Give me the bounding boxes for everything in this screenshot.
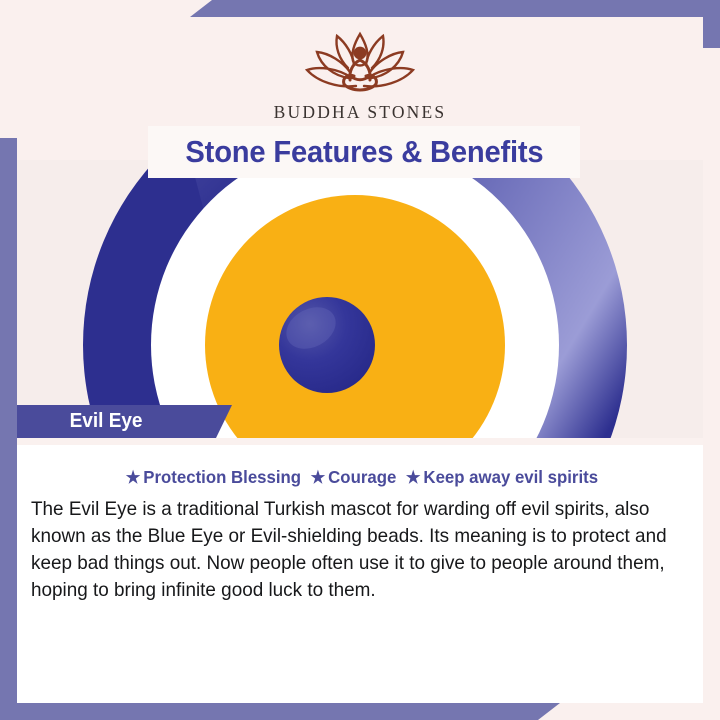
product-name-banner: Evil Eye [17, 405, 232, 438]
lotus-meditation-figure-icon [294, 26, 426, 100]
star-icon: ★ [406, 468, 421, 487]
star-icon: ★ [311, 468, 326, 487]
page-title: Stone Features & Benefits [185, 134, 543, 170]
description-text: The Evil Eye is a traditional Turkish ma… [31, 496, 685, 604]
frame-top-accent [190, 0, 720, 17]
benefit-item-0: Protection Blessing [143, 467, 301, 487]
benefit-item-2: Keep away evil spirits [423, 467, 598, 487]
frame-bottom-accent [0, 703, 560, 720]
page-title-banner: Stone Features & Benefits [148, 126, 580, 178]
benefit-item-1: Courage [328, 467, 396, 487]
evil-eye-hero-image [17, 160, 703, 445]
product-name-label: Evil Eye [20, 410, 142, 433]
brand-logo: BUDDHA STONES [0, 26, 720, 123]
benefits-row: ★Protection Blessing★Courage★Keep away e… [17, 467, 703, 488]
infographic-page: BUDDHA STONES [0, 0, 720, 720]
brand-wordmark: BUDDHA STONES [0, 102, 720, 123]
star-icon: ★ [126, 468, 141, 487]
frame-left-accent [0, 138, 17, 720]
